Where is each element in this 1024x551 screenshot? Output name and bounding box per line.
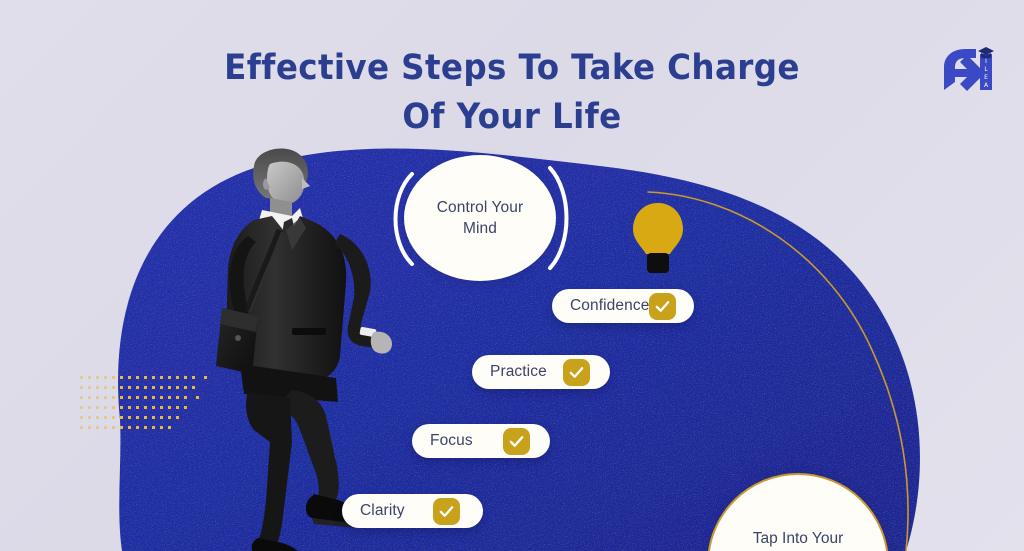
step-pill-practice[interactable]: Practice [472,355,610,389]
page-title-line-1: Effective Steps To Take Charge [36,44,988,93]
node-label-tap-into-your-curiosity: Tap Into Your Curiosity [708,474,888,551]
check-mark-icon [503,428,530,455]
step-label-confidence: Confidence [570,297,649,315]
step-pill-focus[interactable]: Focus [412,424,550,458]
lightbulb-icon [630,200,686,278]
svg-text:E: E [984,74,988,81]
oval-label-line-2: Mind [437,218,524,239]
check-mark-icon [563,359,590,386]
check-mark-icon [649,293,676,320]
step-pill-clarity[interactable]: Clarity [342,494,483,528]
step-label-focus: Focus [430,432,473,450]
node-tap-into-your-curiosity[interactable]: Tap Into Your Curiosity [700,466,896,551]
circle-label-line-1: Tap Into Your [753,526,844,551]
infographic-canvas: Effective Steps To Take Charge Of Your L… [0,0,1024,551]
svg-text:I: I [985,58,987,65]
oval-label-line-1: Control Your [437,197,524,218]
check-mark-icon [433,498,460,525]
node-label-control-your-mind: Control Your Mind [404,155,556,281]
step-pill-confidence[interactable]: Confidence [552,289,694,323]
step-label-clarity: Clarity [360,502,405,520]
page-title: Effective Steps To Take Charge Of Your L… [36,44,988,142]
step-label-practice: Practice [490,363,547,381]
page-title-line-2: Of Your Life [36,93,988,142]
brand-logo[interactable]: I L E A [940,42,1002,94]
node-control-your-mind[interactable]: Control Your Mind [382,150,578,286]
